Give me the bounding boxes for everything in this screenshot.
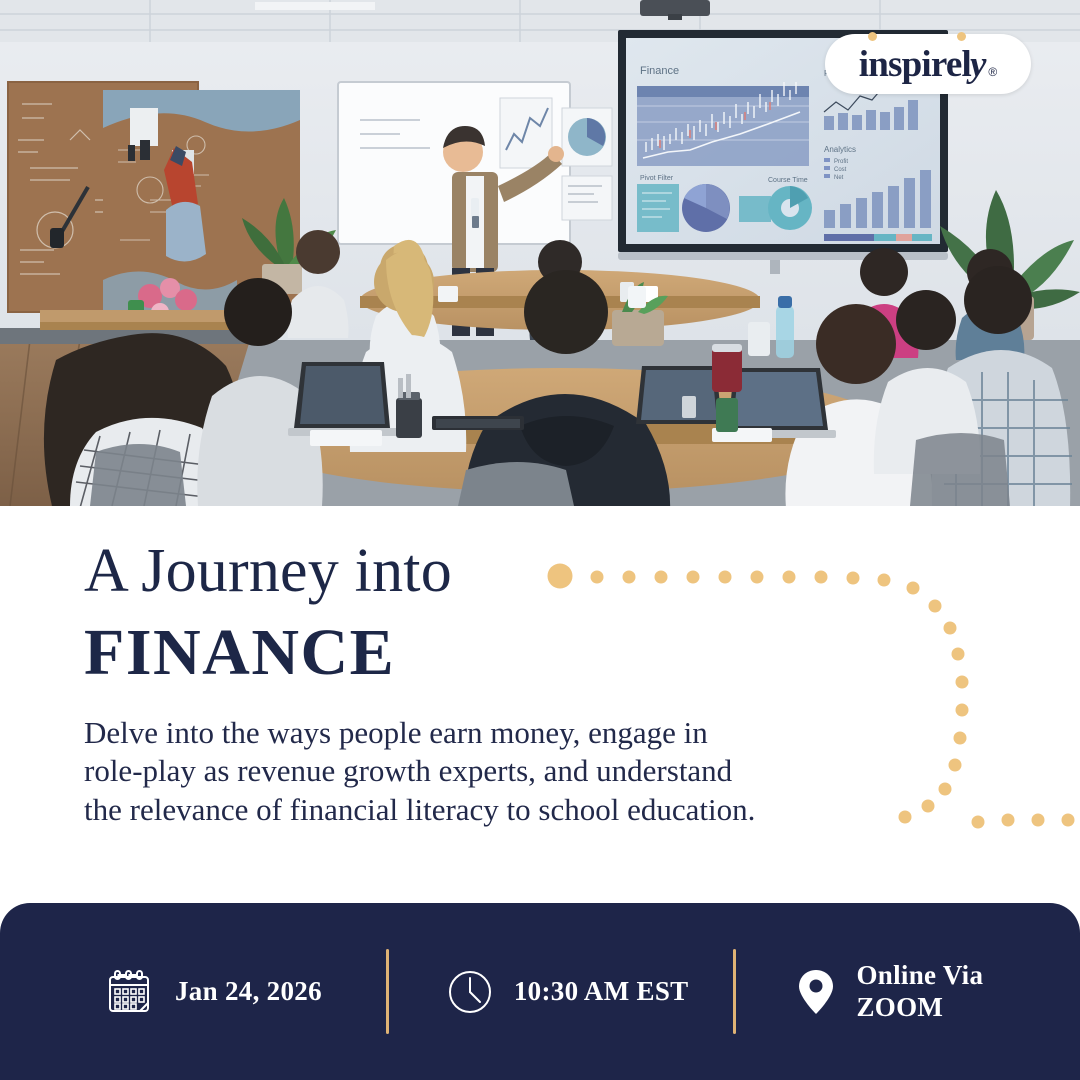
brand-logo[interactable]: inspirel y ®: [825, 34, 1031, 94]
event-date-value: Jan 24, 2026: [175, 976, 322, 1008]
event-poster: Finance Pivot Filter: [0, 0, 1080, 1080]
event-location-value: Online Via ZOOM: [857, 960, 984, 1024]
event-time-value: 10:30 AM EST: [514, 976, 689, 1008]
logo-italic-y: y: [970, 46, 986, 83]
main-content: A Journey into FINANCE Delve into the wa…: [0, 506, 1080, 903]
svg-text:Net: Net: [834, 175, 844, 181]
svg-text:Analytics: Analytics: [824, 145, 856, 154]
logo-text: inspirel: [859, 46, 971, 83]
logo-wordmark: inspirel y ®: [859, 46, 997, 83]
registered-trademark-icon: ®: [988, 65, 997, 83]
svg-text:Pivot Filter: Pivot Filter: [640, 175, 674, 182]
svg-text:Profit: Profit: [834, 159, 848, 165]
event-description: Delve into the ways people earn money, e…: [84, 714, 884, 829]
calendar-icon: [104, 967, 154, 1017]
description-line-1: Delve into the ways people earn money, e…: [84, 714, 884, 752]
svg-text:Course Time: Course Time: [768, 177, 808, 184]
page-title: FINANCE: [84, 620, 395, 686]
page-subtitle: A Journey into: [84, 540, 452, 602]
description-line-2: role-play as revenue growth experts, and…: [84, 752, 884, 790]
event-date-block: Jan 24, 2026: [0, 903, 322, 1080]
svg-text:Cost: Cost: [834, 167, 847, 173]
event-location-block: Online Via ZOOM: [736, 903, 984, 1080]
logo-dot-i1: [868, 32, 877, 41]
location-pin-icon: [796, 967, 836, 1017]
clock-icon: [447, 969, 493, 1015]
svg-text:Finance: Finance: [640, 65, 679, 77]
description-line-3: the relevance of financial literacy to s…: [84, 791, 884, 829]
event-details-bar: Jan 24, 2026 10:30 AM EST Online Vi: [0, 903, 1080, 1080]
event-time-block: 10:30 AM EST: [389, 903, 689, 1080]
logo-dot-i2: [957, 32, 966, 41]
